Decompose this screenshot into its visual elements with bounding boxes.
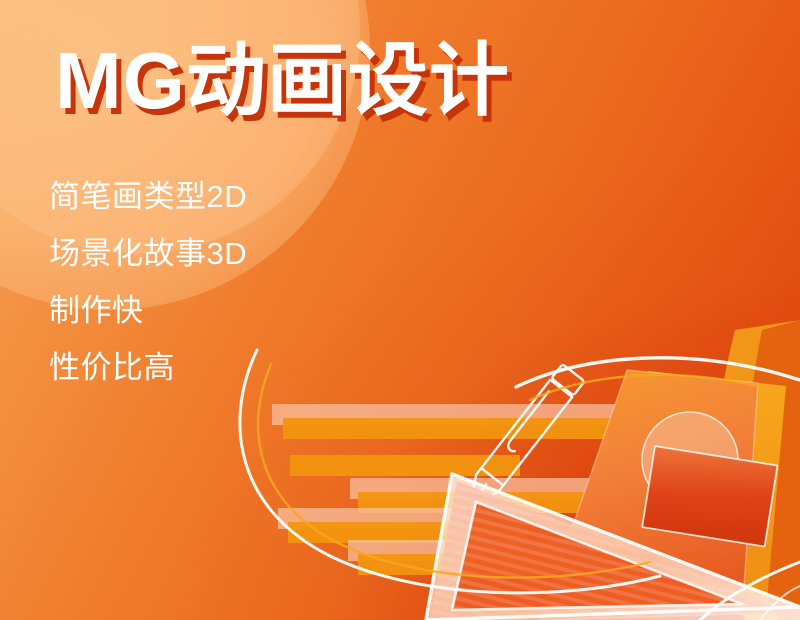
feature-item: 性价比高 [49,352,247,383]
mg-animation-banner: MG动画设计 简笔画类型2D 场景化故事3D 制作快 性价比高 [0,0,800,620]
feature-list: 简笔画类型2D 场景化故事3D 制作快 性价比高 [49,181,247,409]
page-title: MG动画设计 [55,41,510,121]
feature-item: 简笔画类型2D [49,181,247,212]
feature-item: 场景化故事3D [49,238,247,269]
feature-item: 制作快 [49,295,247,326]
